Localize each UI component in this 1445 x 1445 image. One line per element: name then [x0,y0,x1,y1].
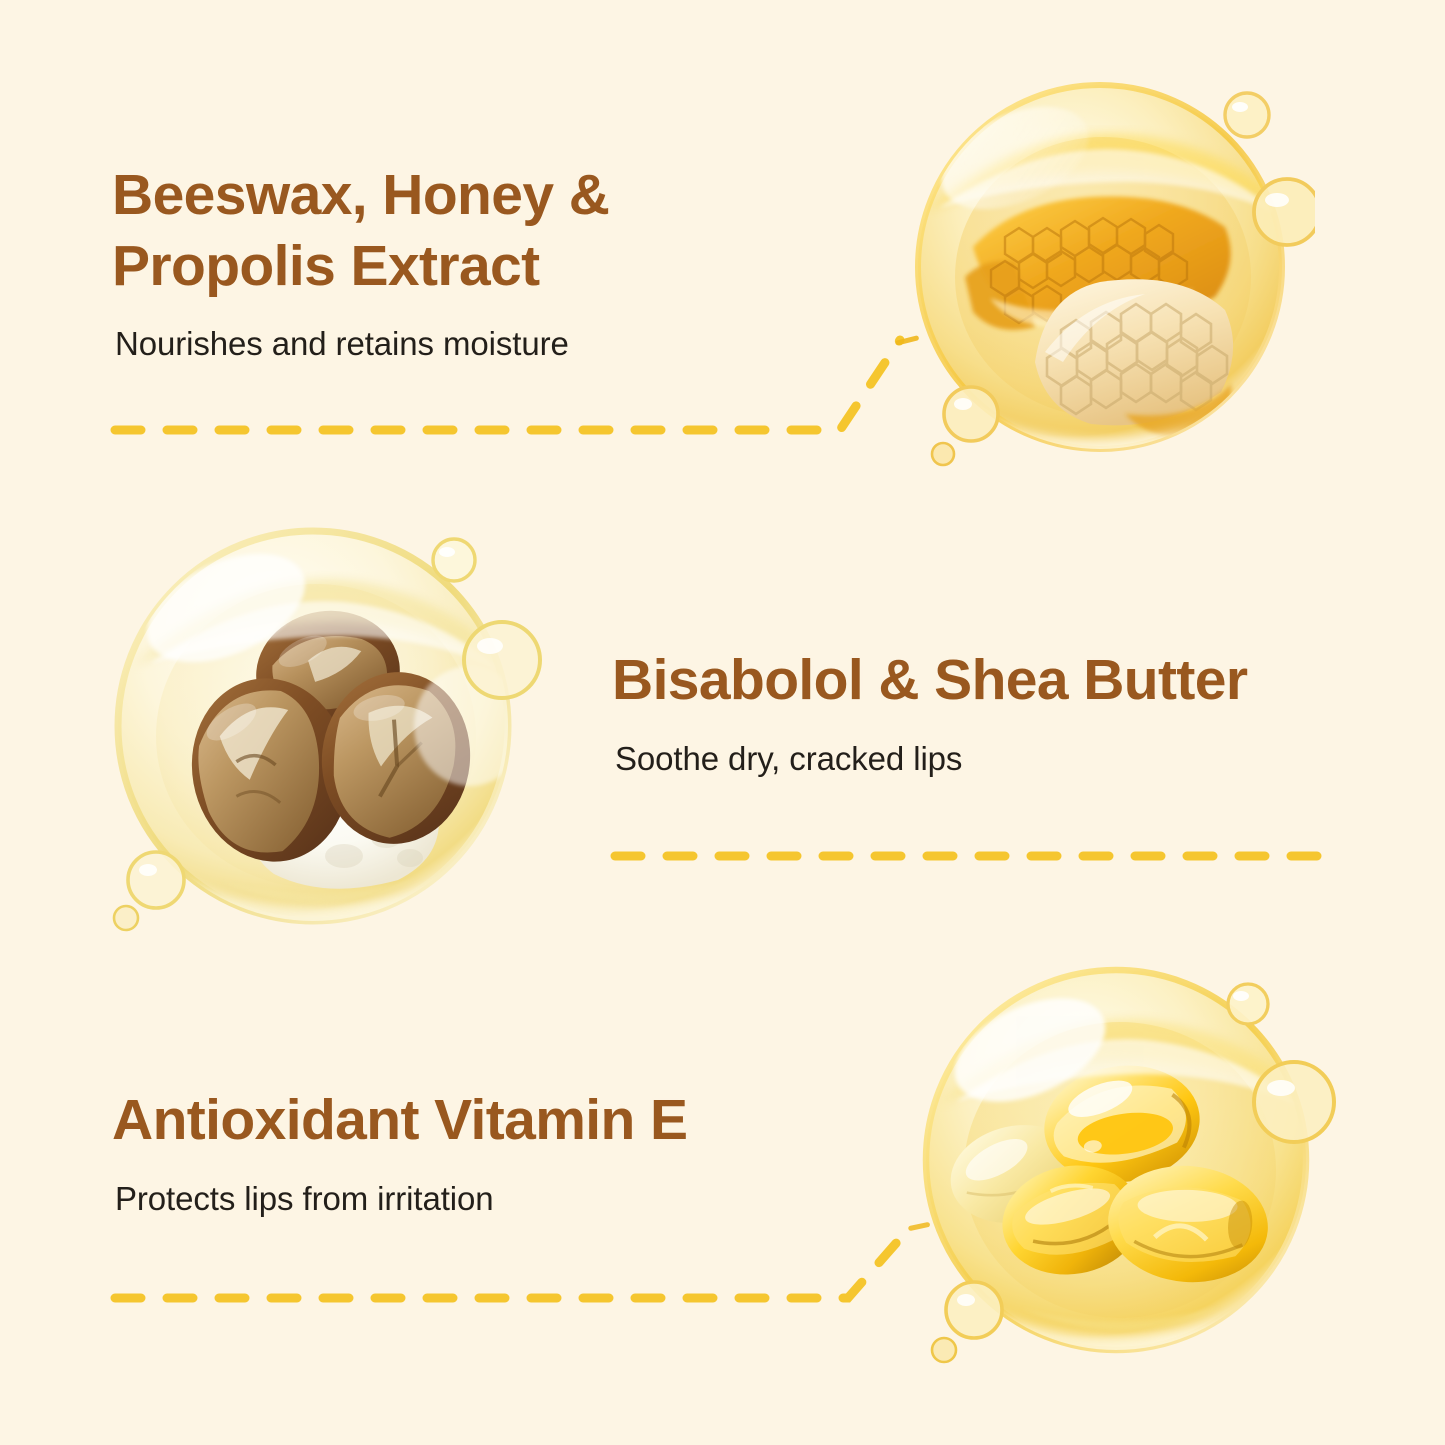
ingredient-subheading-beeswax: Nourishes and retains moisture [115,323,812,366]
vitamin-e-bubble-image [908,952,1338,1372]
connector-vitamine-dashed-line [100,1230,960,1360]
ingredient-infographic: Beeswax, Honey & Propolis Extract Nouris… [0,0,1445,1445]
ingredient-block-beeswax: Beeswax, Honey & Propolis Extract Nouris… [112,160,812,366]
ingredient-heading-bisabolol: Bisabolol & Shea Butter [612,645,1372,716]
ingredient-block-bisabolol: Bisabolol & Shea Butter Soothe dry, crac… [612,645,1372,781]
ingredient-block-vitamine: Antioxidant Vitamin E Protects lips from… [112,1085,812,1221]
ingredient-subheading-vitamine: Protects lips from irritation [115,1178,812,1221]
ingredient-heading-vitamine: Antioxidant Vitamin E [112,1085,812,1156]
ingredient-heading-beeswax: Beeswax, Honey & Propolis Extract [112,160,812,301]
honeycomb-bubble-image [895,62,1315,482]
connector-bisabolol-dashed-line [600,820,1360,900]
ingredient-subheading-bisabolol: Soothe dry, cracked lips [615,738,1372,781]
shea-butter-bubble-image [98,508,543,953]
